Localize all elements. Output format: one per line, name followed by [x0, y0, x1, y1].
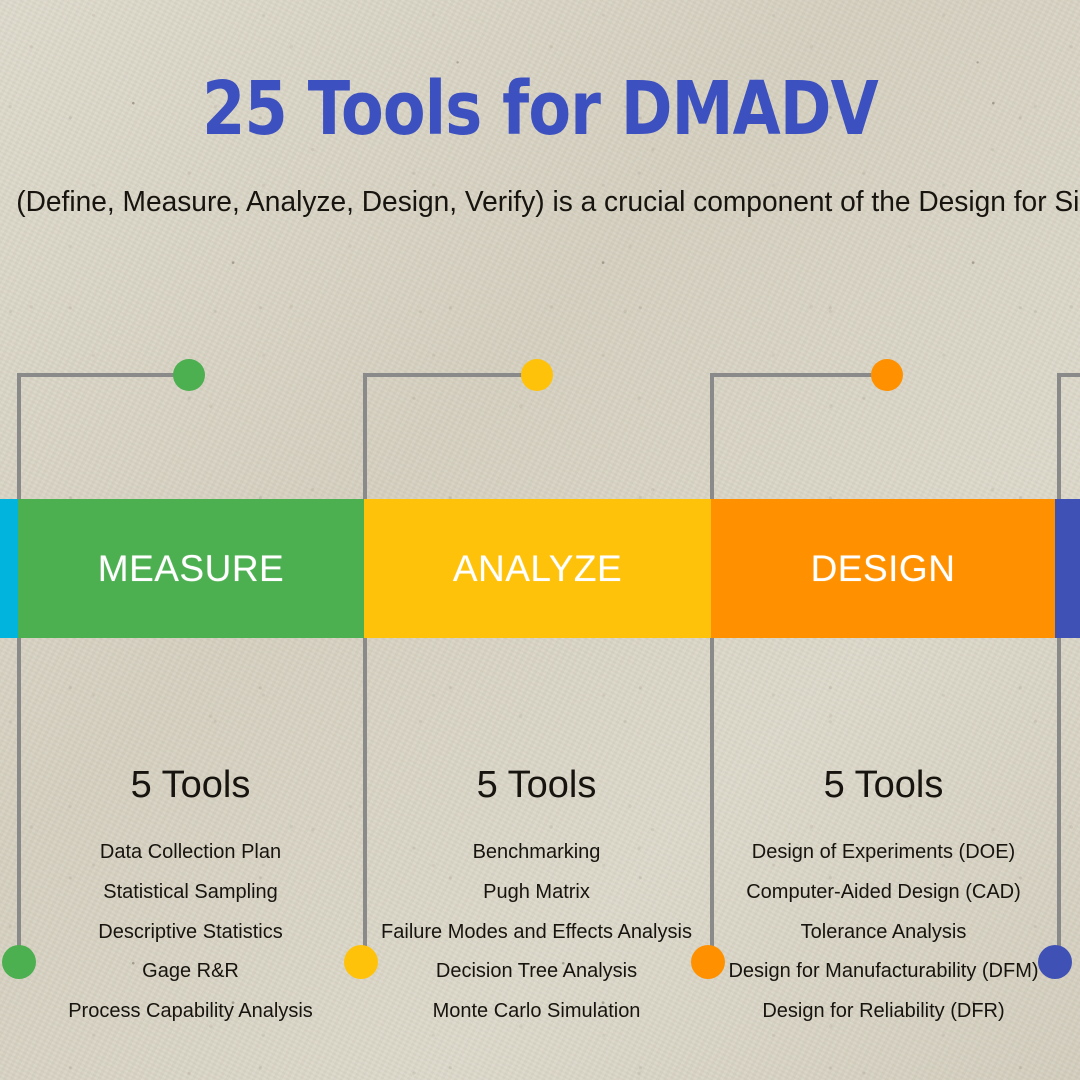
phase-tool-count-measure: 5 Tools — [17, 764, 364, 807]
phase-tool-count-analyze: 5 Tools — [363, 764, 710, 807]
tool-item: Data Collection Plan — [17, 833, 364, 873]
phase-band-measure[interactable]: MEASURE — [18, 499, 364, 638]
phase-band-design[interactable]: DESIGN — [711, 499, 1055, 638]
tool-item: Computer-Aided Design (CAD) — [710, 873, 1057, 913]
tool-item: Design for Reliability (DFR) — [710, 992, 1057, 1032]
tool-item: Gage R&R — [17, 952, 364, 992]
page-title: 25 Tools for DMADV — [86, 72, 993, 146]
connector-analyze-top — [363, 373, 539, 501]
node-dot-measure-top — [173, 359, 205, 391]
tool-item: Design for Manufacturability (DFM) — [710, 952, 1057, 992]
phase-band-verify[interactable] — [1055, 499, 1080, 638]
connector-verify-bottom — [1057, 638, 1061, 962]
phase-tool-list-analyze: Benchmarking Pugh Matrix Failure Modes a… — [363, 833, 710, 1032]
tool-item: Decision Tree Analysis — [363, 952, 710, 992]
tool-item: Monte Carlo Simulation — [363, 992, 710, 1032]
tool-item: Statistical Sampling — [17, 873, 364, 913]
phase-detail-analyze: 5 Tools Benchmarking Pugh Matrix Failure… — [363, 764, 710, 1032]
tool-item: Process Capability Analysis — [17, 992, 364, 1032]
page-subtitle: (Define, Measure, Analyze, Design, Verif… — [16, 186, 1064, 219]
phase-tool-count-design: 5 Tools — [710, 764, 1057, 807]
phase-band-label-analyze: ANALYZE — [453, 548, 622, 590]
node-dot-analyze-top — [521, 359, 553, 391]
phase-tool-list-design: Design of Experiments (DOE) Computer-Aid… — [710, 833, 1057, 1032]
tool-item: Tolerance Analysis — [710, 913, 1057, 953]
tool-item: Pugh Matrix — [363, 873, 710, 913]
connector-verify-top — [1057, 373, 1080, 501]
connector-design-top — [710, 373, 886, 501]
phase-detail-design: 5 Tools Design of Experiments (DOE) Comp… — [710, 764, 1057, 1032]
phase-strip: MEASURE ANALYZE DESIGN — [0, 499, 1080, 638]
tool-item: Failure Modes and Effects Analysis — [363, 913, 710, 953]
phase-tool-list-measure: Data Collection Plan Statistical Samplin… — [17, 833, 364, 1032]
connector-measure-top — [17, 373, 193, 501]
tool-item: Design of Experiments (DOE) — [710, 833, 1057, 873]
phase-band-label-measure: MEASURE — [98, 548, 284, 590]
node-dot-design-top — [871, 359, 903, 391]
tool-item: Descriptive Statistics — [17, 913, 364, 953]
tool-item: Benchmarking — [363, 833, 710, 873]
phase-band-define[interactable] — [0, 499, 18, 638]
phase-band-label-design: DESIGN — [811, 548, 956, 590]
phase-band-analyze[interactable]: ANALYZE — [364, 499, 711, 638]
phase-detail-measure: 5 Tools Data Collection Plan Statistical… — [17, 764, 364, 1032]
